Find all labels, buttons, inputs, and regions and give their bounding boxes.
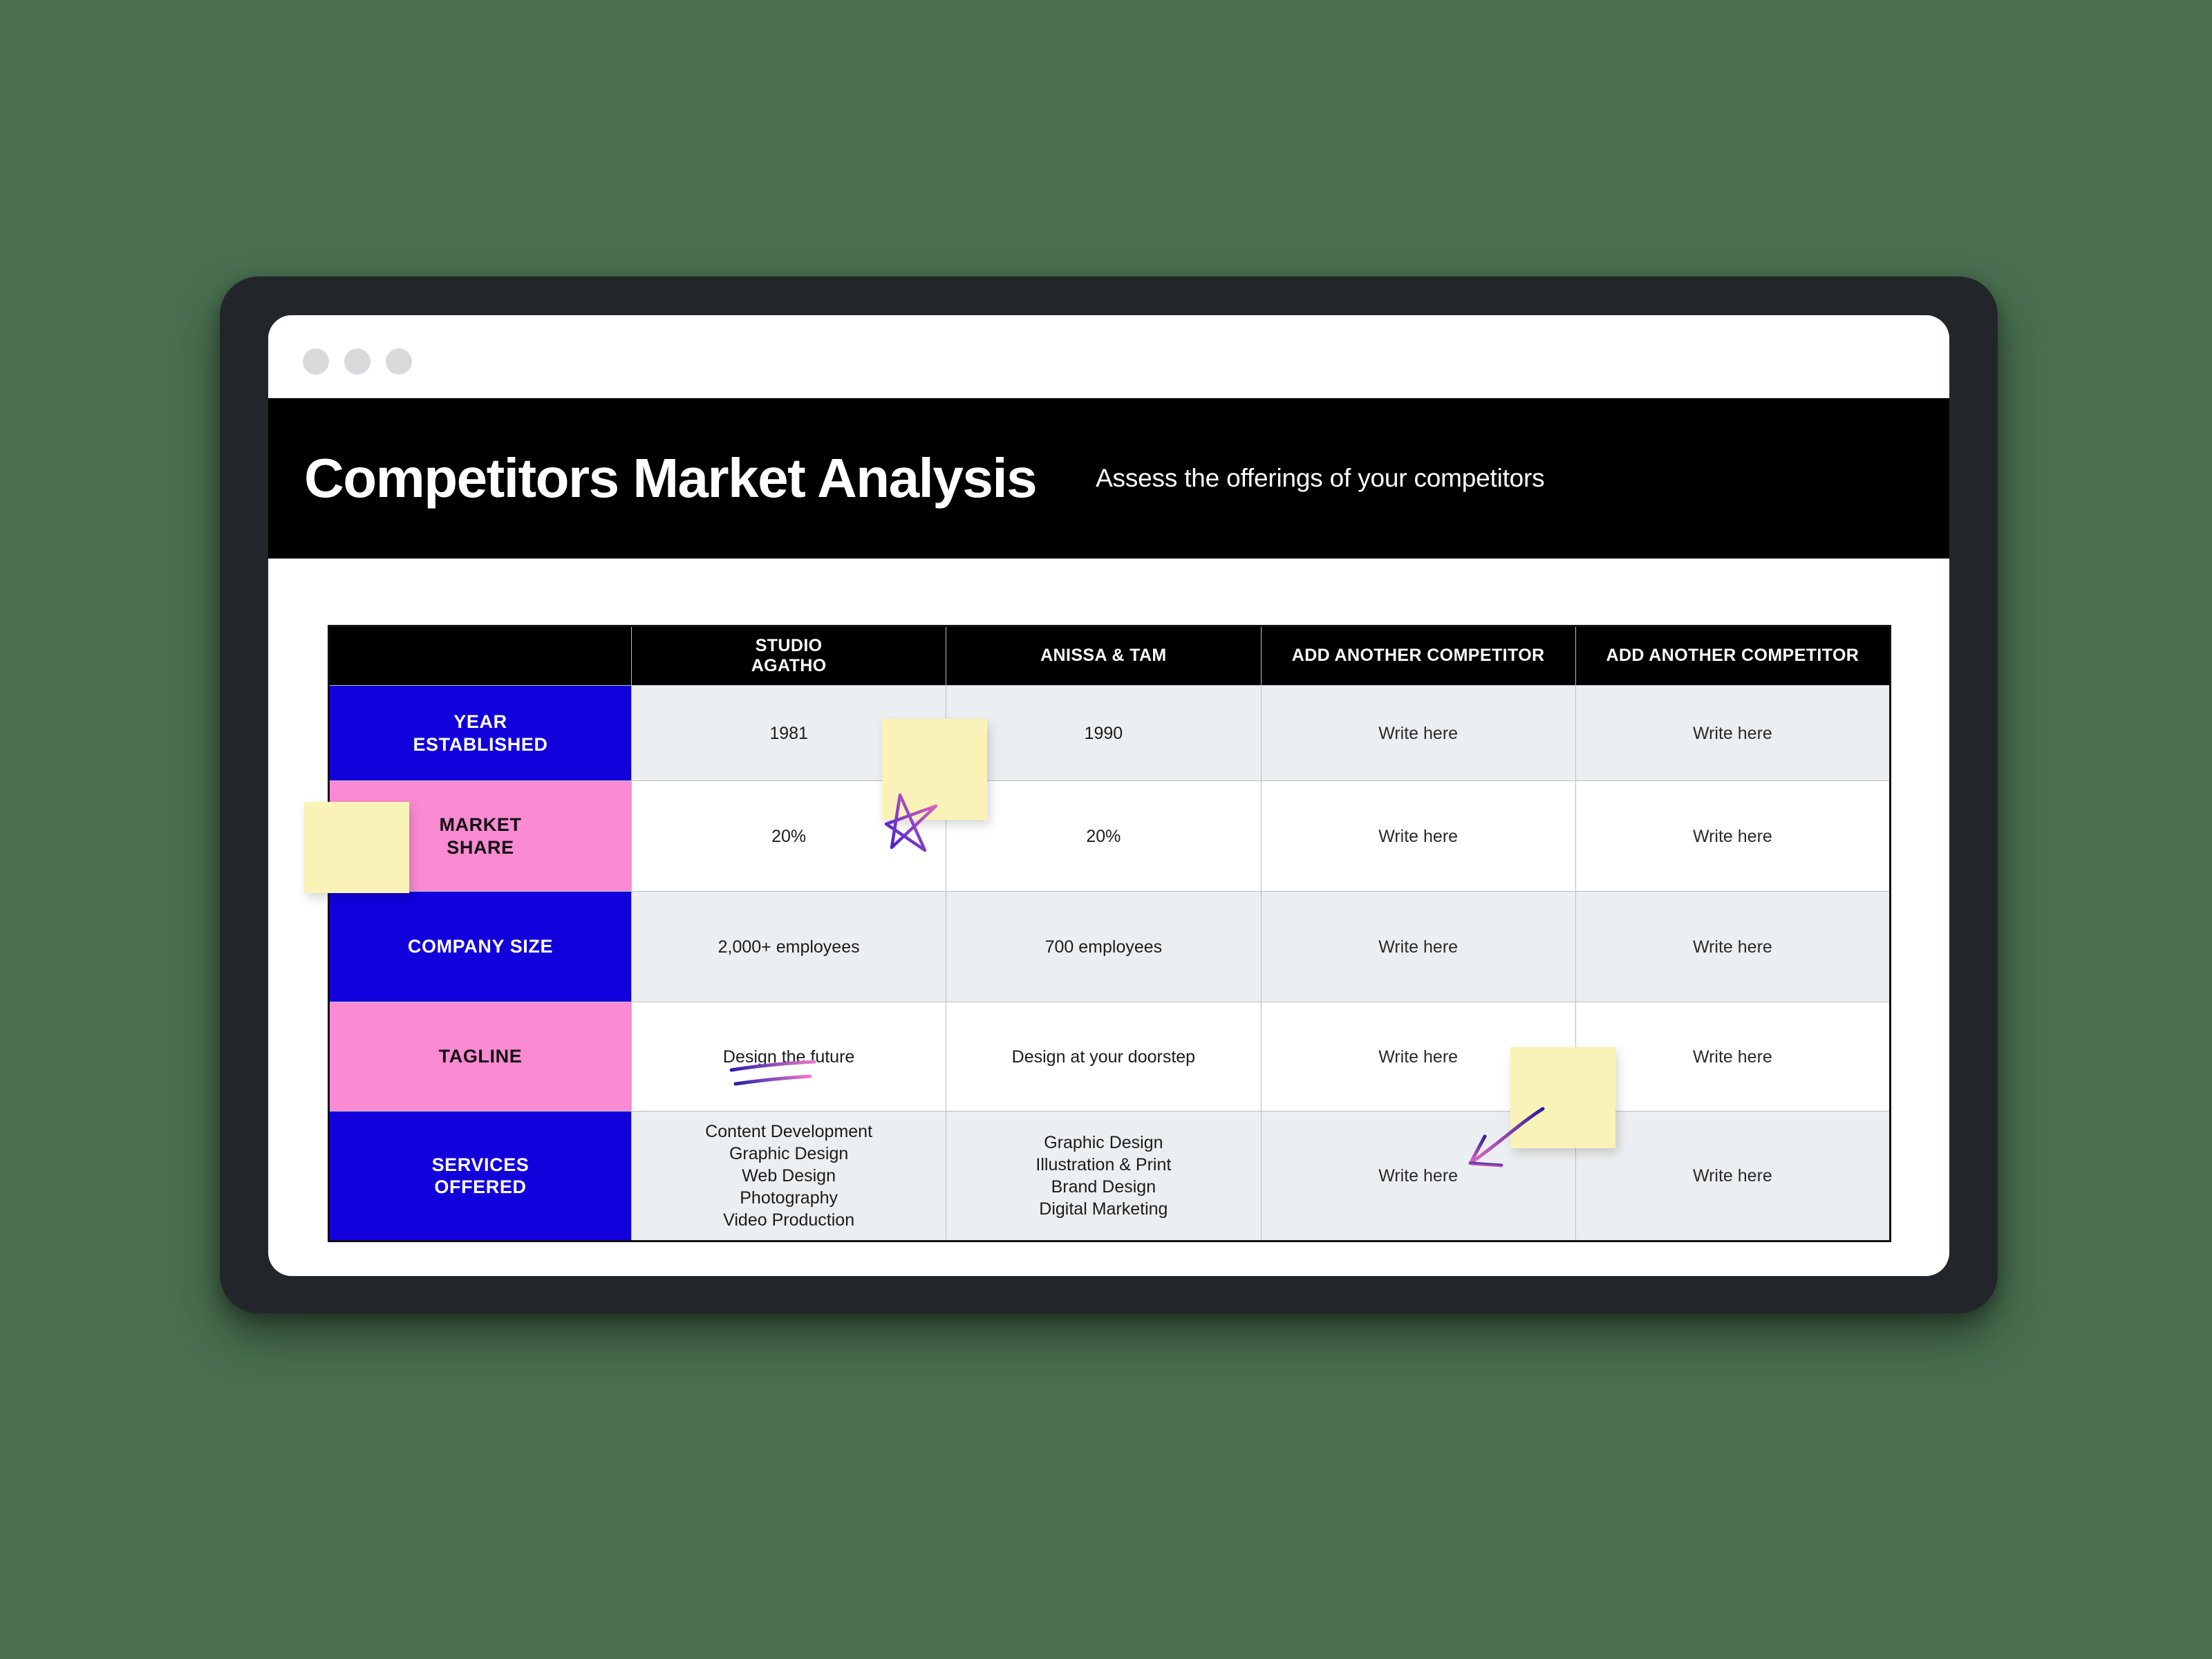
device-frame: Competitors Market Analysis Assess the o… xyxy=(220,276,1998,1313)
sticky-note-left[interactable] xyxy=(304,802,409,893)
services-list-studio-agatho: Content Development Graphic Design Web D… xyxy=(639,1121,939,1231)
column-header-line2: AGATHO xyxy=(751,656,827,675)
list-item: Photography xyxy=(639,1187,939,1209)
cell-year-competitor-4[interactable]: Write here xyxy=(1575,686,1890,781)
cell-year-anissa-tam[interactable]: 1990 xyxy=(946,686,1261,781)
column-header-add-competitor-1[interactable]: ADD ANOTHER COMPETITOR xyxy=(1261,626,1575,686)
cell-services-anissa-tam[interactable]: Graphic Design Illustration & Print Bran… xyxy=(946,1112,1261,1241)
column-header-line1: STUDIO xyxy=(756,636,823,655)
cell-company-size-competitor-4[interactable]: Write here xyxy=(1575,892,1890,1002)
cell-tagline-competitor-4[interactable]: Write here xyxy=(1575,1002,1890,1112)
header-banner: Competitors Market Analysis Assess the o… xyxy=(268,398,1949,559)
page-subtitle: Assess the offerings of your competitors xyxy=(1096,464,1544,493)
maximize-dot-icon[interactable] xyxy=(386,348,412,375)
row-label-line1: COMPANY SIZE xyxy=(408,936,553,957)
table-row-market-share: MARKET SHARE 20% 20% Write here Write he… xyxy=(329,781,1891,892)
cell-company-size-competitor-3[interactable]: Write here xyxy=(1261,892,1575,1002)
list-item: Digital Marketing xyxy=(953,1198,1253,1220)
table-header-row: STUDIO AGATHO ANISSA & TAM ADD ANOTHER C… xyxy=(329,626,1891,686)
cell-tagline-anissa-tam[interactable]: Design at your doorstep xyxy=(946,1002,1261,1112)
table-corner-cell xyxy=(329,626,632,686)
cell-market-share-competitor-3[interactable]: Write here xyxy=(1261,781,1575,892)
row-label-line1: YEAR xyxy=(453,711,507,732)
cell-tagline-studio-agatho[interactable]: Design the future xyxy=(632,1002,946,1112)
row-label-line1: MARKET xyxy=(439,814,521,835)
sticky-note-right[interactable] xyxy=(1510,1047,1615,1148)
window-titlebar xyxy=(268,315,1949,398)
column-header-add-competitor-2[interactable]: ADD ANOTHER COMPETITOR xyxy=(1575,626,1890,686)
cell-company-size-anissa-tam[interactable]: 700 employees xyxy=(946,892,1261,1002)
table-row-year-established: YEAR ESTABLISHED 1981 1990 Write here Wr… xyxy=(329,686,1891,781)
row-label-company-size: COMPANY SIZE xyxy=(329,892,632,1002)
close-dot-icon[interactable] xyxy=(303,348,329,375)
table-row-company-size: COMPANY SIZE 2,000+ employees 700 employ… xyxy=(329,892,1891,1002)
row-label-line2: OFFERED xyxy=(434,1177,526,1197)
list-item: Brand Design xyxy=(953,1176,1253,1198)
list-item: Graphic Design xyxy=(953,1132,1253,1154)
list-item: Content Development xyxy=(639,1121,939,1143)
sticky-note-middle[interactable] xyxy=(882,719,987,820)
page-title: Competitors Market Analysis xyxy=(304,447,1036,510)
cell-market-share-anissa-tam[interactable]: 20% xyxy=(946,781,1261,892)
cell-year-competitor-3[interactable]: Write here xyxy=(1261,686,1575,781)
row-label-line1: SERVICES xyxy=(432,1154,529,1175)
row-label-line1: TAGLINE xyxy=(439,1046,523,1067)
cell-company-size-studio-agatho[interactable]: 2,000+ employees xyxy=(632,892,946,1002)
table-header: STUDIO AGATHO ANISSA & TAM ADD ANOTHER C… xyxy=(329,626,1891,686)
column-header-studio-agatho[interactable]: STUDIO AGATHO xyxy=(632,626,946,686)
table-row-tagline: TAGLINE Design the future Design at your… xyxy=(329,1002,1891,1112)
row-label-tagline: TAGLINE xyxy=(329,1002,632,1112)
row-label-services-offered: SERVICES OFFERED xyxy=(329,1112,632,1241)
table-body: YEAR ESTABLISHED 1981 1990 Write here Wr… xyxy=(329,686,1891,1241)
services-list-anissa-tam: Graphic Design Illustration & Print Bran… xyxy=(953,1132,1253,1220)
list-item: Graphic Design xyxy=(639,1143,939,1165)
list-item: Web Design xyxy=(639,1165,939,1187)
minimize-dot-icon[interactable] xyxy=(344,348,371,375)
cell-services-competitor-4[interactable]: Write here xyxy=(1575,1112,1890,1241)
competitor-comparison-table: STUDIO AGATHO ANISSA & TAM ADD ANOTHER C… xyxy=(328,625,1891,1242)
browser-window: Competitors Market Analysis Assess the o… xyxy=(268,315,1949,1276)
cell-services-studio-agatho[interactable]: Content Development Graphic Design Web D… xyxy=(632,1112,946,1241)
list-item: Illustration & Print xyxy=(953,1154,1253,1176)
row-label-line2: SHARE xyxy=(447,837,514,858)
list-item: Video Production xyxy=(639,1209,939,1231)
row-label-line2: ESTABLISHED xyxy=(413,734,547,755)
row-label-year-established: YEAR ESTABLISHED xyxy=(329,686,632,781)
column-header-anissa-tam[interactable]: ANISSA & TAM xyxy=(946,626,1261,686)
cell-market-share-competitor-4[interactable]: Write here xyxy=(1575,781,1890,892)
table-row-services-offered: SERVICES OFFERED Content Development Gra… xyxy=(329,1112,1891,1241)
